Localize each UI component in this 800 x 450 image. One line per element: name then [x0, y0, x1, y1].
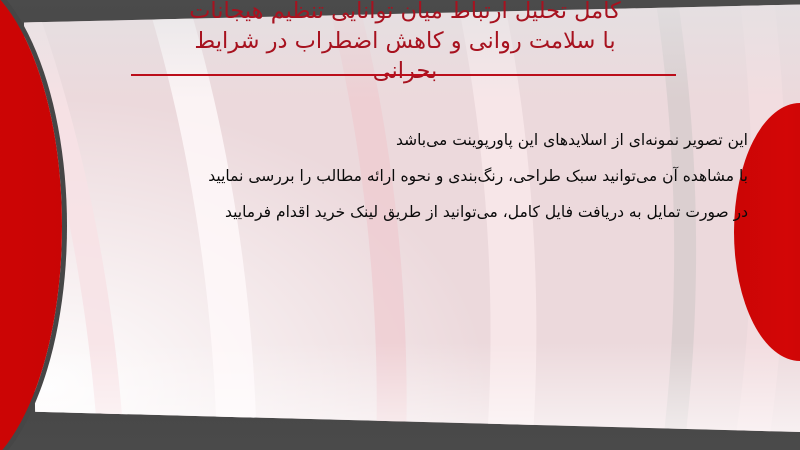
slide-title-line-2: با سلامت روانی و کاهش اضطراب در شرایط [95, 26, 715, 56]
slide-title-line-3: بحرانی [95, 56, 715, 86]
slide-body-text: این تصویر نمونه‌ای از اسلایدهای این پاور… [60, 122, 760, 230]
slide-body-line-2: با مشاهده آن می‌توانید سبک طراحی، رنگ‌بن… [60, 158, 760, 194]
slide-body-line-1: این تصویر نمونه‌ای از اسلایدهای این پاور… [60, 122, 760, 158]
slide-title-line-1: کامل تحلیل ارتباط میان توانایی تنظیم هیج… [95, 0, 715, 26]
presentation-slide: کامل تحلیل ارتباط میان توانایی تنظیم هیج… [0, 0, 800, 450]
title-underline-rule [131, 74, 676, 76]
slide-body-line-3: در صورت تمایل به دریافت فایل کامل، می‌تو… [60, 194, 760, 230]
